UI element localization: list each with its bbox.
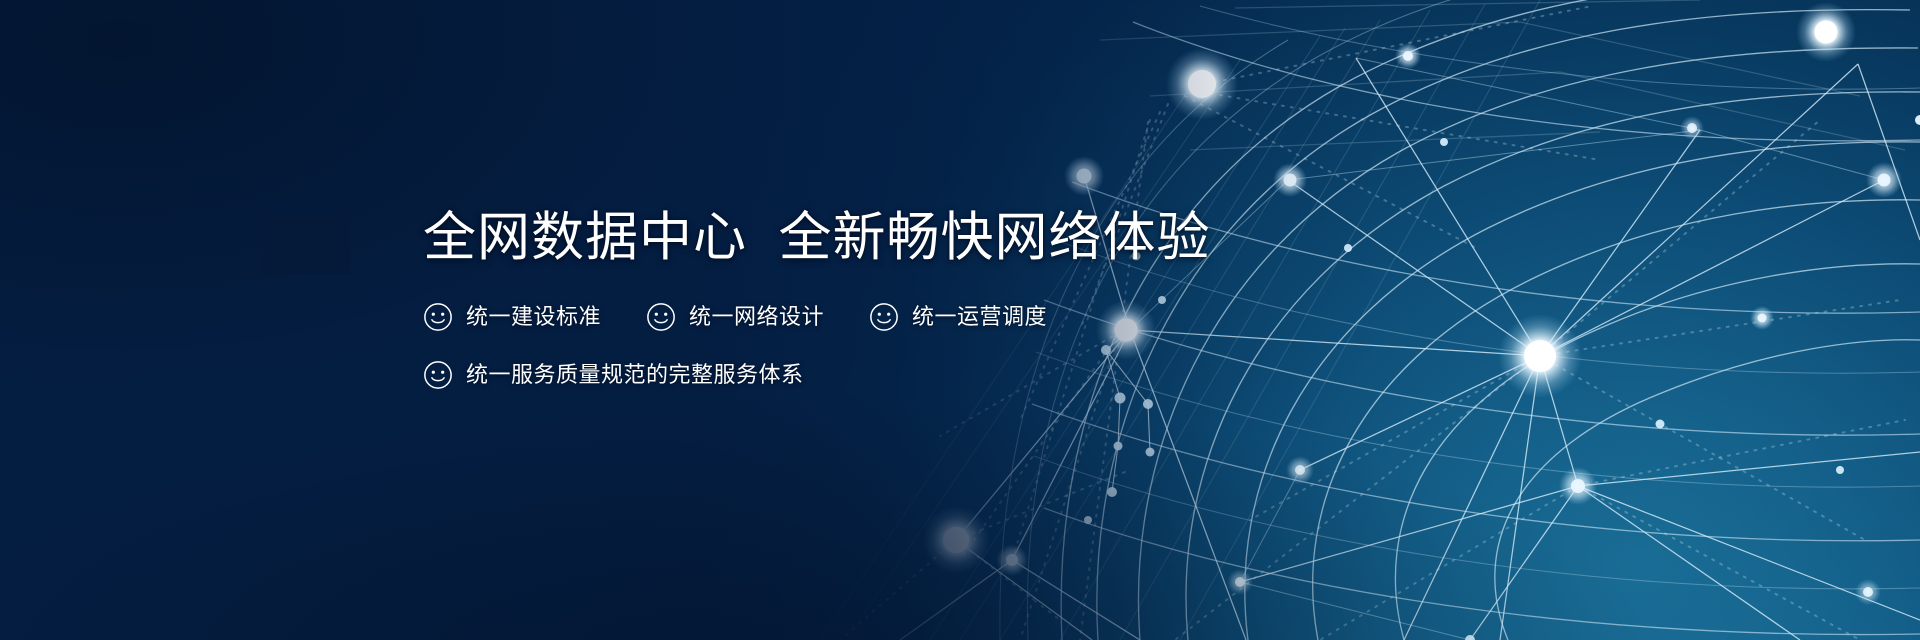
feature-label: 统一服务质量规范的完整服务体系 — [466, 364, 804, 386]
hero-banner: 全网数据中心 全新畅快网络体验 统一建设标准 — [0, 0, 1920, 640]
feature-label: 统一建设标准 — [466, 306, 601, 328]
plate-artifact — [262, 216, 350, 274]
feature-label: 统一网络设计 — [689, 306, 824, 328]
feature-row: 统一服务质量规范的完整服务体系 — [423, 360, 1243, 390]
smiley-face-icon — [423, 360, 453, 390]
smiley-face-icon — [646, 302, 676, 332]
feature-list: 统一建设标准 统一网络设计 — [423, 302, 1243, 390]
smiley-face-icon — [423, 302, 453, 332]
feature-item-unified-service-quality-system[interactable]: 统一服务质量规范的完整服务体系 — [423, 360, 804, 390]
feature-label: 统一运营调度 — [912, 306, 1047, 328]
feature-item-unified-operation-scheduling[interactable]: 统一运营调度 — [869, 302, 1047, 332]
feature-row: 统一建设标准 统一网络设计 — [423, 302, 1243, 332]
banner-headline: 全网数据中心 全新畅快网络体验 — [423, 208, 1243, 268]
feature-item-unified-construction-standard[interactable]: 统一建设标准 — [423, 302, 601, 332]
feature-item-unified-network-design[interactable]: 统一网络设计 — [646, 302, 824, 332]
smiley-face-icon — [869, 302, 899, 332]
banner-content: 全网数据中心 全新畅快网络体验 统一建设标准 — [423, 208, 1243, 390]
